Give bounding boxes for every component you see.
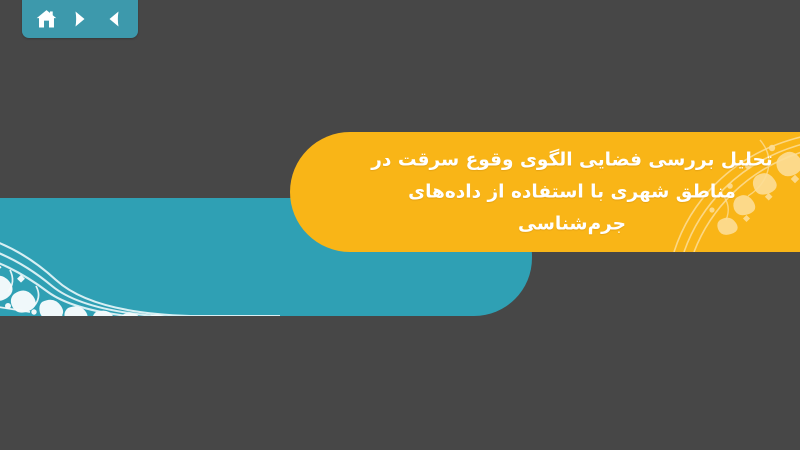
back-arrow-icon — [103, 8, 125, 30]
home-button[interactable] — [31, 6, 61, 32]
title-line-1: تحلیل بررسی فضایی الگوی وقوع سرقت در — [312, 144, 800, 176]
title-line-3: جرم‌شناسی — [312, 208, 800, 240]
slide-title: تحلیل بررسی فضایی الگوی وقوع سرقت در منا… — [312, 144, 800, 239]
presentation-slide: تحلیل بررسی فضایی الگوی وقوع سرقت در منا… — [0, 0, 800, 450]
navigation-bar — [22, 0, 138, 38]
forward-arrow-icon — [69, 8, 91, 30]
arabesque-ornament-left — [0, 224, 280, 316]
back-button[interactable] — [99, 6, 129, 32]
title-line-2: مناطق شهری با استفاده از داده‌های — [312, 176, 800, 208]
title-panel: تحلیل بررسی فضایی الگوی وقوع سرقت در منا… — [290, 132, 800, 252]
forward-button[interactable] — [65, 6, 95, 32]
home-icon — [35, 8, 58, 31]
